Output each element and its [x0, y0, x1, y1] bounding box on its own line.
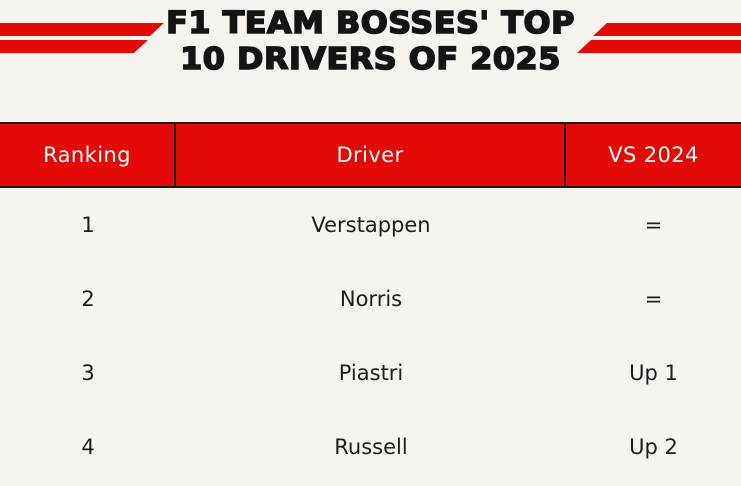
- cell-driver: Piastri: [176, 361, 566, 385]
- table-body: 1 Verstappen = 2 Norris = 3 Piastri Up 1…: [0, 188, 741, 484]
- infographic-page: F1 TEAM BOSSES' TOP 10 DRIVERS OF 2025 R…: [0, 0, 741, 486]
- cell-ranking: 3: [0, 361, 176, 385]
- cell-vs2024: Up 2: [566, 435, 741, 459]
- column-header-driver: Driver: [176, 124, 566, 186]
- cell-ranking: 2: [0, 287, 176, 311]
- cell-driver: Norris: [176, 287, 566, 311]
- cell-driver: Verstappen: [176, 213, 566, 237]
- title-band: F1 TEAM BOSSES' TOP 10 DRIVERS OF 2025: [0, 0, 741, 112]
- cell-driver: Russell: [176, 435, 566, 459]
- stripe-upper: [593, 23, 741, 36]
- cell-vs2024: =: [566, 213, 741, 237]
- racing-stripes-right-icon: [573, 23, 741, 61]
- table-row: 4 Russell Up 2: [0, 410, 741, 484]
- table-header-row: Ranking Driver VS 2024: [0, 122, 741, 188]
- cell-ranking: 1: [0, 213, 176, 237]
- table-row: 1 Verstappen =: [0, 188, 741, 262]
- stripe-lower: [577, 40, 741, 53]
- table-row: 3 Piastri Up 1: [0, 336, 741, 410]
- cell-ranking: 4: [0, 435, 176, 459]
- cell-vs2024: =: [566, 287, 741, 311]
- column-header-vs2024: VS 2024: [566, 124, 741, 186]
- cell-vs2024: Up 1: [566, 361, 741, 385]
- rankings-table: Ranking Driver VS 2024 1 Verstappen = 2 …: [0, 122, 741, 484]
- table-row: 2 Norris =: [0, 262, 741, 336]
- column-header-ranking: Ranking: [0, 124, 176, 186]
